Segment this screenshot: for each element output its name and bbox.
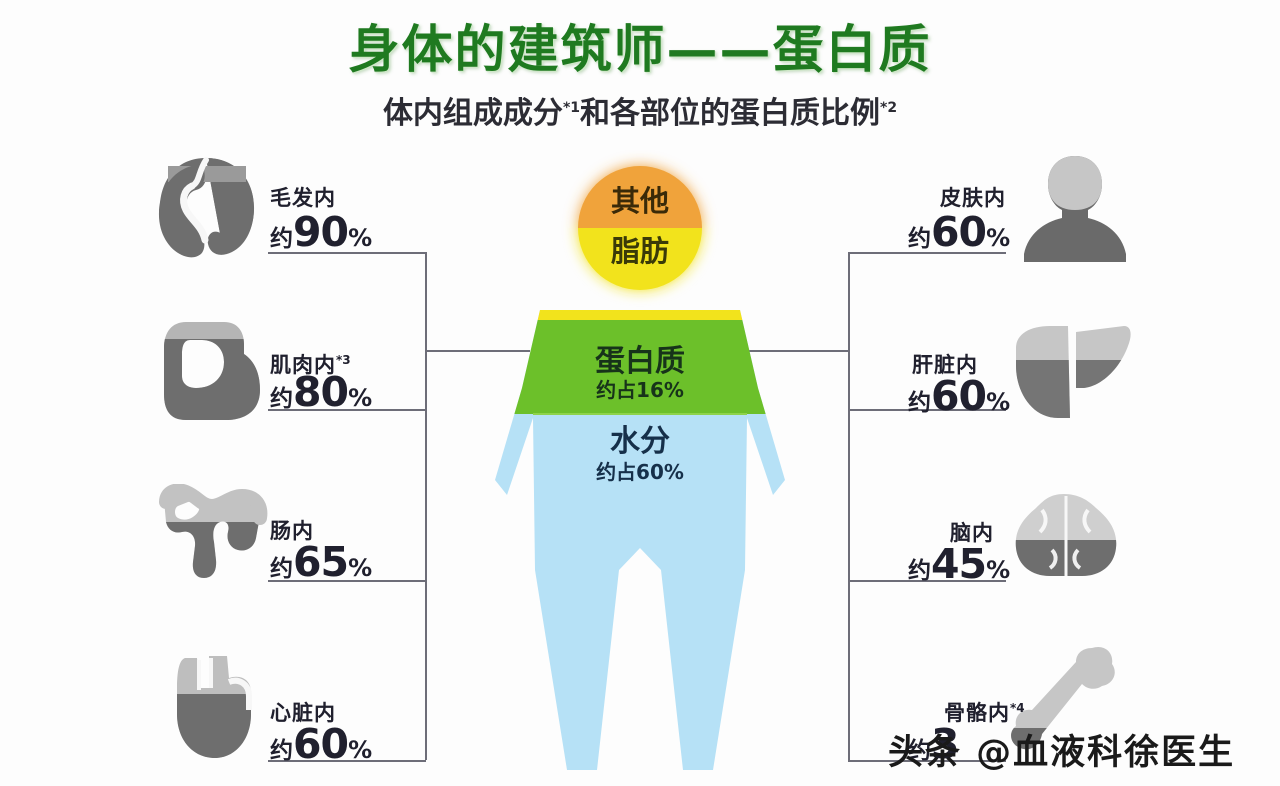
- page-subtitle: 体内组成成分*1和各部位的蛋白质比例*2: [0, 88, 1280, 132]
- right-bracket-vertical: [848, 252, 850, 760]
- item-value: 约90%: [270, 208, 372, 256]
- intestine-icon: [150, 484, 272, 586]
- watermark: 头条 @血液科徐医生: [888, 724, 1235, 775]
- head-group: [575, 164, 705, 294]
- item-value: 约60%: [908, 208, 1010, 256]
- item-value: 约60%: [270, 720, 372, 768]
- item-value: 约65%: [270, 538, 372, 586]
- subtitle-part2: 和各部位的蛋白质比例: [580, 96, 880, 131]
- muscle-icon: [160, 318, 264, 428]
- heart-icon: [165, 648, 263, 768]
- subtitle-sup1: *1: [563, 100, 580, 116]
- body-svg: [455, 150, 825, 786]
- item-value: 约80%: [270, 368, 372, 416]
- body-silhouette: [455, 300, 825, 786]
- human-body-diagram: 其他 脂肪 蛋白质 约占16% 水分 约占60%: [455, 150, 825, 786]
- left-bracket-vertical: [425, 252, 427, 760]
- item-value: 约45%: [908, 540, 1010, 588]
- brain-icon: [1012, 492, 1120, 584]
- subtitle-sup2: *2: [880, 100, 897, 116]
- item-value: 约60%: [908, 372, 1010, 420]
- liver-icon: [1012, 322, 1134, 426]
- infographic-page: 身体的建筑师——蛋白质 体内组成成分*1和各部位的蛋白质比例*2: [0, 0, 1280, 786]
- subtitle-part1: 体内组成成分: [383, 96, 563, 131]
- person-bust-icon: [1022, 152, 1128, 268]
- page-title: 身体的建筑师——蛋白质: [0, 8, 1280, 82]
- hair-icon: [148, 156, 260, 268]
